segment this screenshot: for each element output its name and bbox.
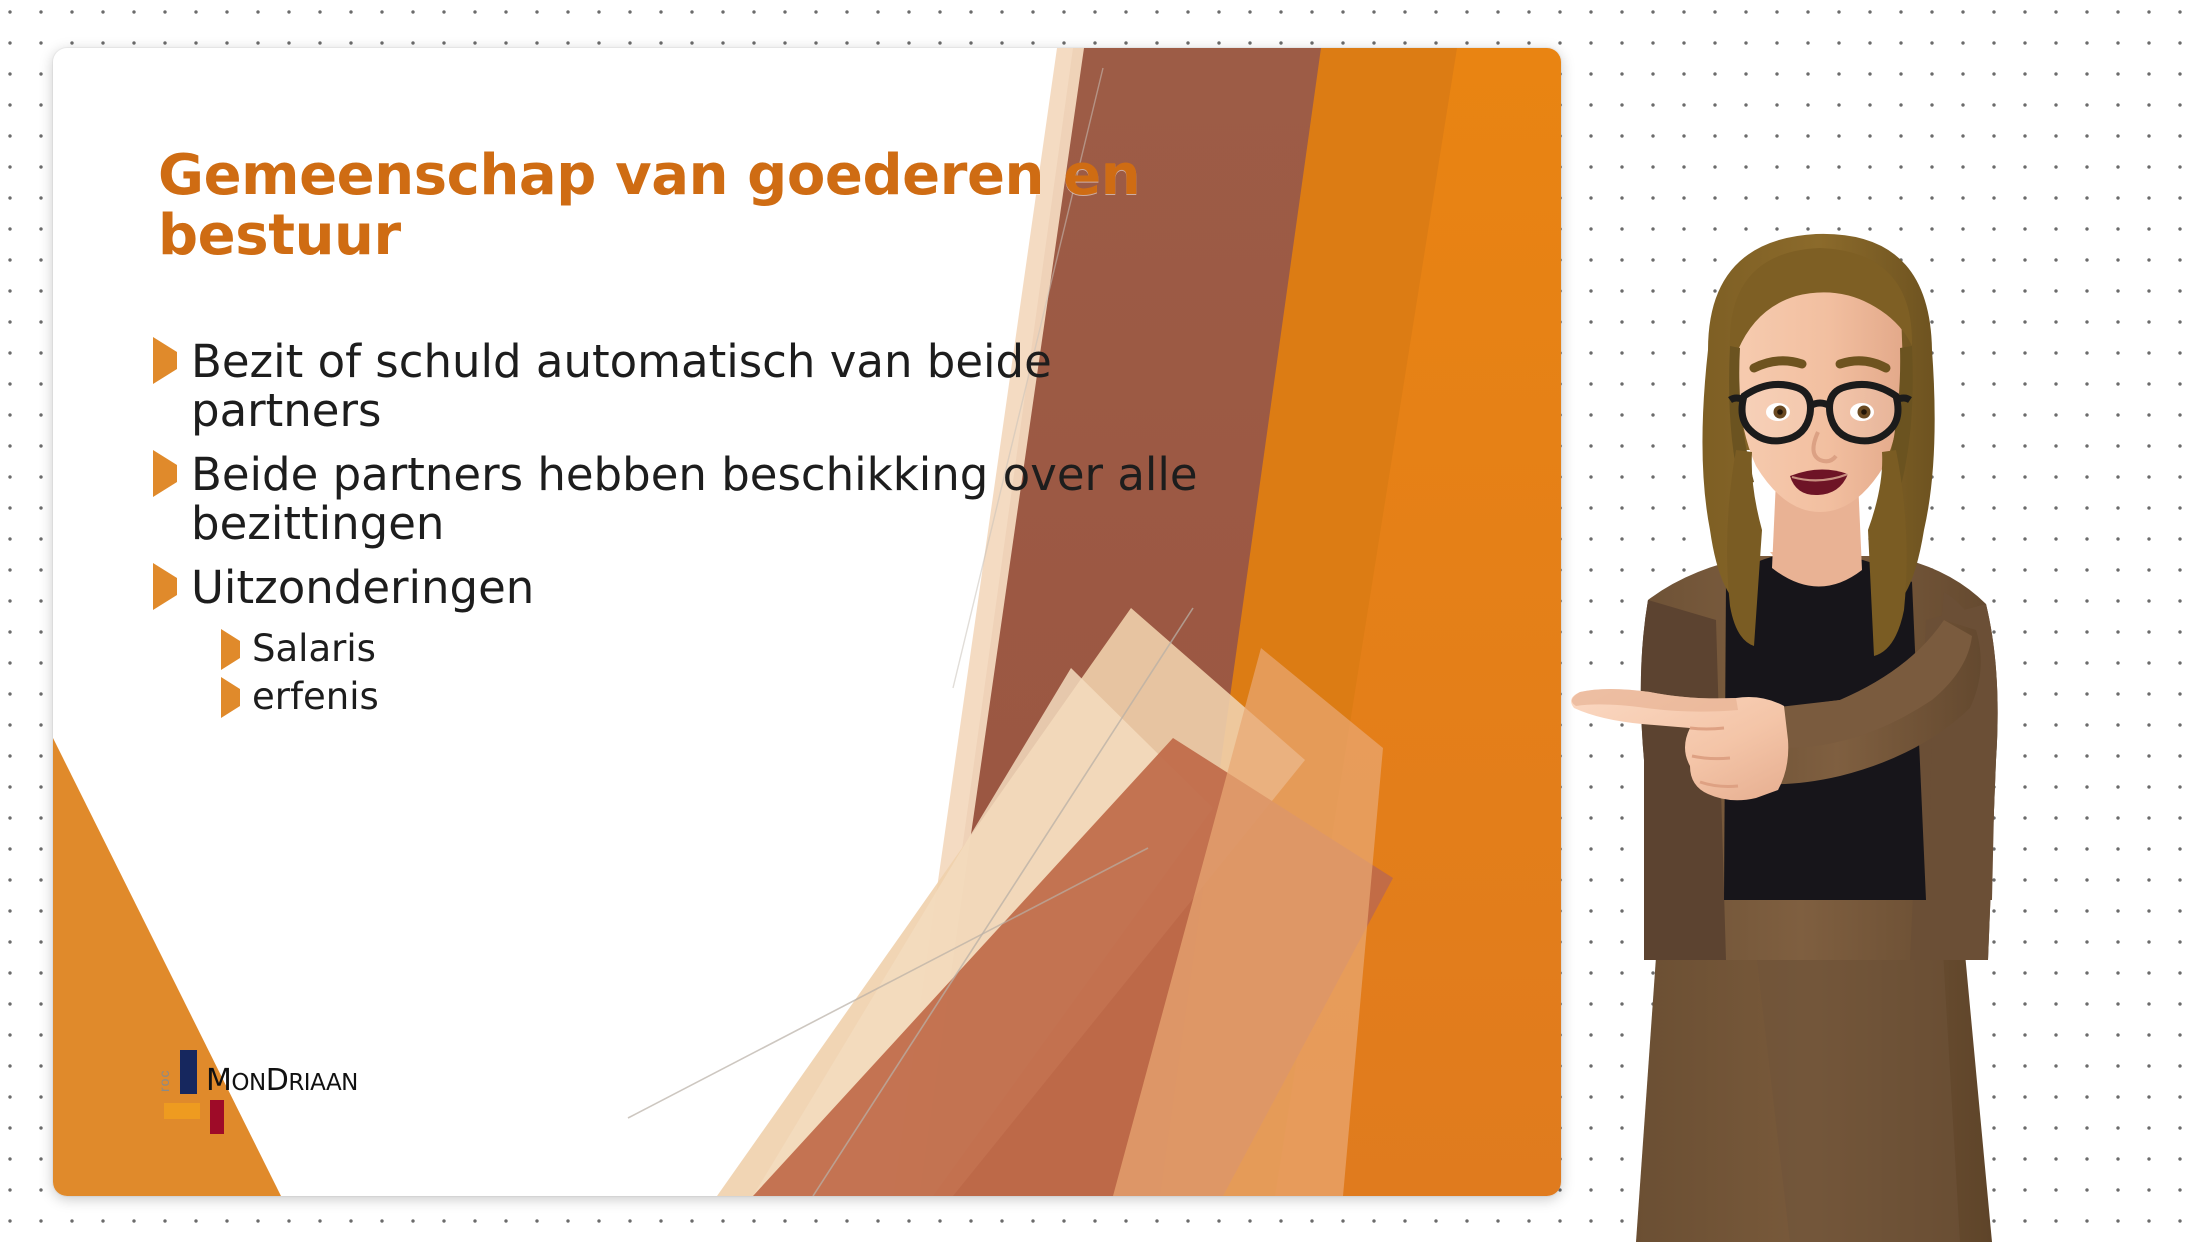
roc-mondriaan-logo: roc MONDRIAAN (160, 1048, 420, 1134)
bullet-label: Bezit of schuld automatisch van beide pa… (191, 338, 1213, 435)
logo-orange-bar (164, 1103, 200, 1119)
bullet-item: Beide partners hebben beschikking over a… (153, 451, 1213, 548)
bullet-list: Bezit of schuld automatisch van beide pa… (153, 338, 1213, 725)
logo-wordmark: MONDRIAAN (206, 1063, 358, 1098)
slide-title: Gemeenschap van goederen en bestuur (158, 146, 1178, 266)
slide-card[interactable]: Gemeenschap van goederen en bestuur Bezi… (53, 48, 1561, 1196)
triangle-bullet-icon (221, 641, 240, 659)
sub-bullet-label: Salaris (252, 629, 376, 669)
sub-bullet-label: erfenis (252, 677, 379, 717)
bullet-item: Bezit of schuld automatisch van beide pa… (153, 338, 1213, 435)
sub-bullet-item: Salaris (153, 629, 1213, 669)
triangle-bullet-icon (153, 578, 177, 596)
logo-navy-bar (180, 1050, 197, 1094)
triangle-bullet-icon (153, 465, 177, 483)
logo-roc-text: roc (160, 1070, 172, 1092)
bullet-label: Uitzonderingen (191, 564, 534, 613)
logo-crimson-bar (210, 1100, 224, 1134)
triangle-bullet-icon (153, 352, 177, 370)
bullet-label: Beide partners hebben beschikking over a… (191, 451, 1213, 548)
triangle-bullet-icon (221, 689, 240, 707)
sub-bullet-item: erfenis (153, 677, 1213, 717)
presenter-avatar (1540, 200, 2100, 1242)
bullet-item: Uitzonderingen (153, 564, 1213, 613)
